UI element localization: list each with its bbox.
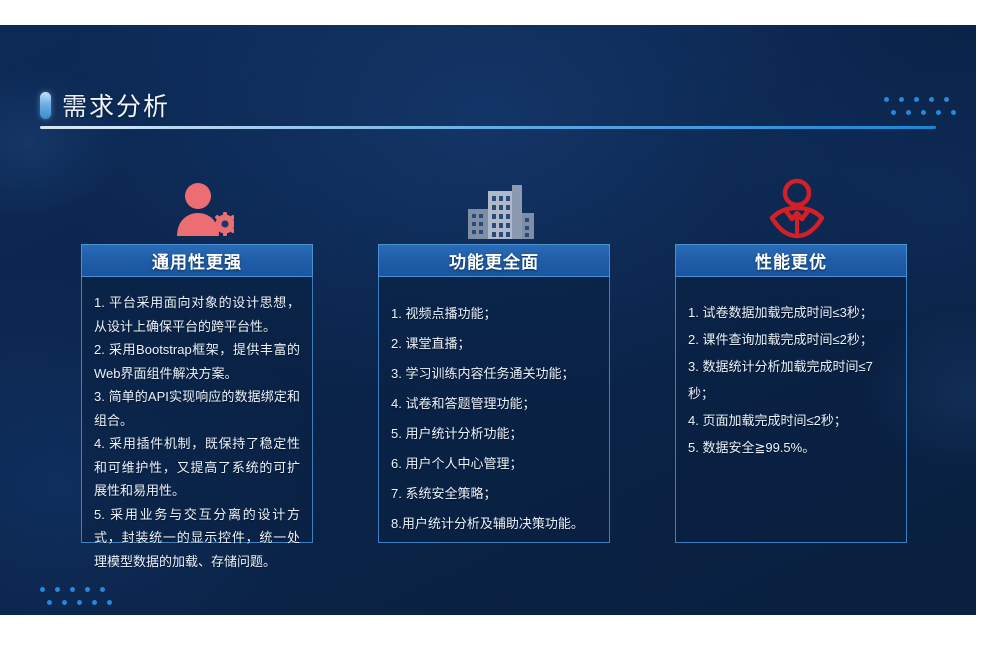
decorative-dot <box>906 110 911 115</box>
card-body: 1. 视频点播功能； 2. 课堂直播； 3. 学习训练内容任务通关功能； 4. … <box>378 277 610 543</box>
decorative-dot <box>929 97 934 102</box>
office-buildings-icon <box>440 177 560 239</box>
user-settings-icon <box>143 177 263 239</box>
decorative-dot <box>47 600 52 605</box>
list-item: 4. 页面加载完成时间≤2秒； <box>688 407 894 434</box>
card-header: 功能更全面 <box>378 244 610 277</box>
list-item: 5. 用户统计分析功能； <box>391 419 597 449</box>
decorative-dot <box>921 110 926 115</box>
decorative-dot <box>40 587 45 592</box>
list-item: 3. 数据统计分析加载完成时间≤7秒； <box>688 353 894 407</box>
card-generality: 通用性更强 1. 平台采用面向对象的设计思想，从设计上确保平台的跨平台性。 2.… <box>81 244 313 543</box>
card-item-list: 1. 视频点播功能； 2. 课堂直播； 3. 学习训练内容任务通关功能； 4. … <box>391 299 597 539</box>
decorative-dot <box>62 600 67 605</box>
list-item: 8.用户统计分析及辅助决策功能。 <box>391 509 597 539</box>
list-item: 1. 平台采用面向对象的设计思想，从设计上确保平台的跨平台性。 <box>94 291 300 338</box>
list-item: 3. 学习训练内容任务通关功能； <box>391 359 597 389</box>
list-item: 5. 数据安全≧99.5%。 <box>688 434 894 461</box>
decorative-dot <box>899 97 904 102</box>
card-item-list: 1. 试卷数据加载完成时间≤3秒； 2. 课件查询加载完成时间≤2秒； 3. 数… <box>688 299 894 461</box>
list-item: 2. 课件查询加载完成时间≤2秒； <box>688 326 894 353</box>
person-suit-icon <box>737 177 857 239</box>
card-body: 1. 试卷数据加载完成时间≤3秒； 2. 课件查询加载完成时间≤2秒； 3. 数… <box>675 277 907 543</box>
title-divider <box>40 126 936 129</box>
list-item: 4. 采用插件机制，既保持了稳定性和可维护性，又提高了系统的可扩展性和易用性。 <box>94 432 300 503</box>
list-item: 1. 试卷数据加载完成时间≤3秒； <box>688 299 894 326</box>
decorative-dot <box>944 97 949 102</box>
decorative-dot <box>55 587 60 592</box>
decorative-dot <box>891 110 896 115</box>
decorative-dot <box>936 110 941 115</box>
list-item: 3. 简单的API实现响应的数据绑定和组合。 <box>94 385 300 432</box>
list-item: 6. 用户个人中心管理； <box>391 449 597 479</box>
decorative-dot <box>92 600 97 605</box>
list-item: 2. 采用Bootstrap框架，提供丰富的Web界面组件解决方案。 <box>94 338 300 385</box>
title-bullet-icon <box>40 92 51 119</box>
list-item: 1. 视频点播功能； <box>391 299 597 329</box>
card-performance: 性能更优 1. 试卷数据加载完成时间≤3秒； 2. 课件查询加载完成时间≤2秒；… <box>675 244 907 543</box>
decorative-dot <box>951 110 956 115</box>
decorative-dot <box>884 97 889 102</box>
slide-header: 需求分析 <box>0 25 976 135</box>
list-item: 7. 系统安全策略； <box>391 479 597 509</box>
card-features: 功能更全面 1. 视频点播功能； 2. 课堂直播； 3. 学习训练内容任务通关功… <box>378 244 610 543</box>
page-title: 需求分析 <box>62 87 170 123</box>
decorative-dot <box>107 600 112 605</box>
card-title: 性能更优 <box>755 248 827 273</box>
decorative-dot <box>85 587 90 592</box>
list-item: 2. 课堂直播； <box>391 329 597 359</box>
card-item-list: 1. 平台采用面向对象的设计思想，从设计上确保平台的跨平台性。 2. 采用Boo… <box>94 291 300 573</box>
decorative-dot-grid-bottom-left <box>40 587 115 609</box>
card-body: 1. 平台采用面向对象的设计思想，从设计上确保平台的跨平台性。 2. 采用Boo… <box>81 277 313 543</box>
list-item: 5. 采用业务与交互分离的设计方式，封装统一的显示控件，统一处理模型数据的加载、… <box>94 503 300 574</box>
card-header: 通用性更强 <box>81 244 313 277</box>
slide-canvas: 需求分析 <box>0 25 976 615</box>
list-item: 4. 试卷和答题管理功能； <box>391 389 597 419</box>
decorative-dot <box>70 587 75 592</box>
card-title: 功能更全面 <box>449 248 539 273</box>
decorative-dot <box>100 587 105 592</box>
card-title: 通用性更强 <box>152 248 242 273</box>
decorative-dot <box>77 600 82 605</box>
decorative-dot <box>914 97 919 102</box>
card-header: 性能更优 <box>675 244 907 277</box>
decorative-dot-grid-top-right <box>884 97 959 119</box>
